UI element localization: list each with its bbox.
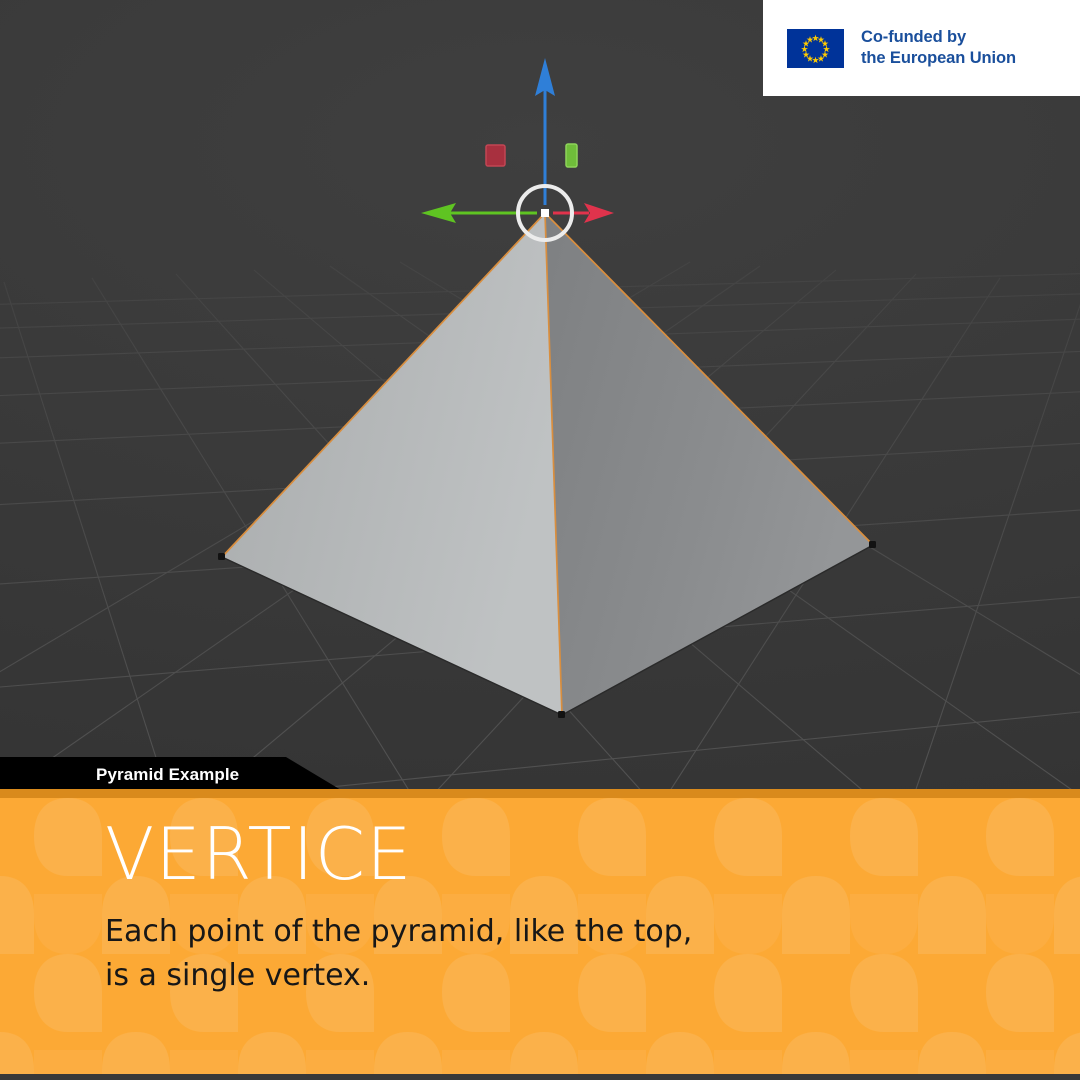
- 3d-viewport[interactable]: Pyramid Example: [0, 0, 1080, 793]
- move-gizmo[interactable]: [0, 0, 1080, 793]
- eu-flag-stars: [787, 29, 844, 68]
- bottom-bar: [0, 1074, 1080, 1080]
- caption-content: VERTICE Each point of the pyramid, like …: [105, 818, 692, 998]
- eu-funding-line-1: Co-funded by: [861, 27, 1016, 48]
- object-label-text: Pyramid Example: [96, 765, 239, 785]
- accent-strip: [0, 789, 1080, 798]
- object-label-banner: Pyramid Example: [0, 757, 346, 793]
- eu-funding-line-2: the European Union: [861, 48, 1016, 69]
- slide-canvas: Pyramid Example: [0, 0, 1080, 1080]
- caption-panel: VERTICE Each point of the pyramid, like …: [0, 798, 1080, 1074]
- caption-body: Each point of the pyramid, like the top,…: [105, 910, 692, 998]
- gizmo-origin-dot[interactable]: [541, 209, 549, 217]
- gizmo-axis-x-arrow[interactable]: [553, 203, 614, 223]
- gizmo-axis-z-arrow[interactable]: [535, 58, 555, 205]
- gizmo-plane-handle-y[interactable]: [566, 144, 577, 167]
- eu-funding-logo: Co-funded by the European Union: [763, 0, 1080, 96]
- eu-flag-icon: [787, 29, 844, 68]
- gizmo-plane-handle-x[interactable]: [486, 145, 505, 166]
- eu-funding-text: Co-funded by the European Union: [861, 27, 1016, 69]
- caption-headline: VERTICE: [105, 818, 692, 890]
